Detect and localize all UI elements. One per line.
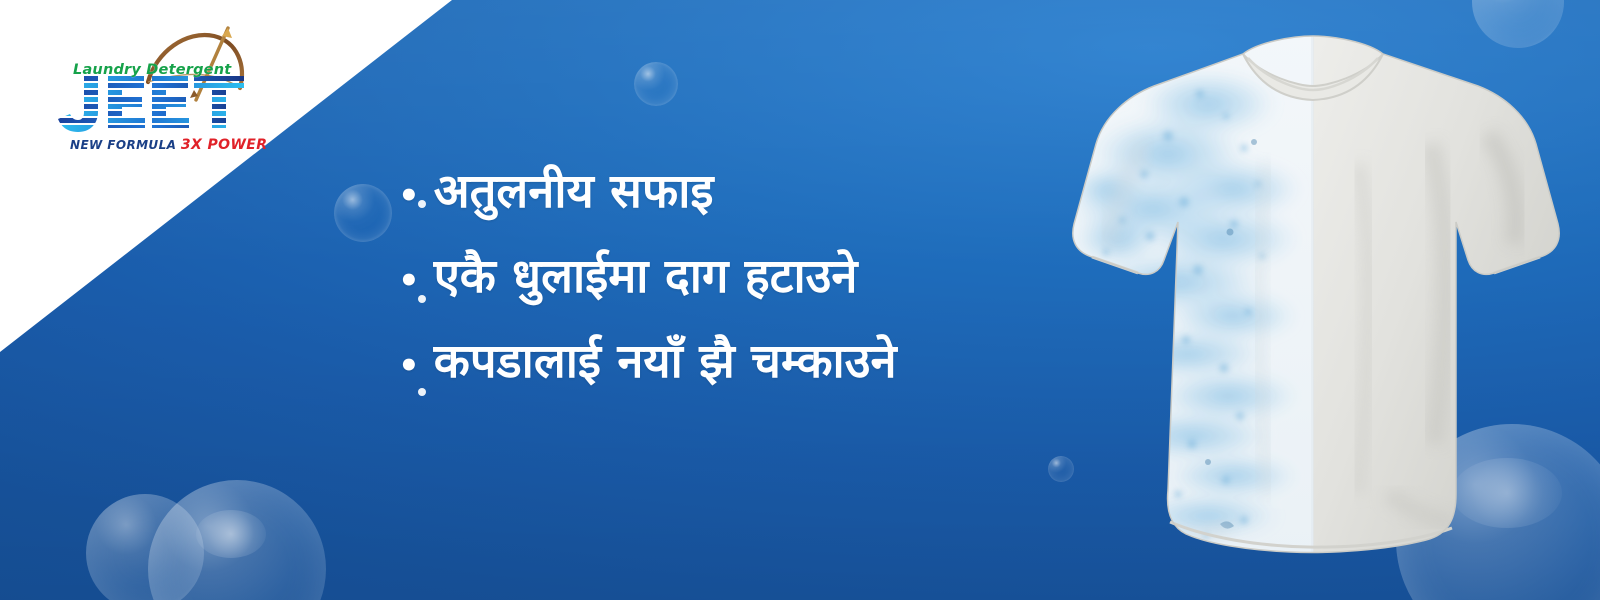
benefit-text-3: कपडालाई नयाँ झै चम्काउने — [434, 338, 897, 385]
bullet-marker-icon: • — [398, 179, 420, 213]
bullet-marker-icon: • — [398, 349, 420, 383]
list-item: • एकै धुलाईमा दाग हटाउने — [398, 253, 1138, 300]
benefit-list: • अतुलनीय सफाइ • एकै धुलाईमा दाग हटाउने … — [398, 168, 1138, 385]
promo-banner: Laundry Detergent — [0, 0, 1600, 600]
bullet-marker-icon: • — [398, 264, 420, 298]
bubble-bottom-left-small — [86, 494, 204, 600]
list-item: • अतुलनीय सफाइ — [398, 168, 1138, 215]
brand-logo[interactable]: Laundry Detergent — [46, 22, 256, 162]
dot-lower-right — [418, 388, 426, 396]
logo-tagline-bottom: NEW FORMULA 3X POWER — [70, 137, 267, 153]
logo-tagline-top: Laundry Detergent — [73, 62, 231, 78]
logo-tagline-3x-power: 3X POWER — [181, 137, 268, 153]
logo-tagline-new-formula: NEW FORMULA — [70, 138, 176, 152]
bubble-upper-center — [634, 62, 678, 106]
bubble-bottom-left-highlight — [196, 510, 266, 558]
bubble-bottom-left-large — [148, 480, 326, 600]
benefit-text-1: अतुलनीय सफाइ — [434, 168, 714, 215]
list-item: • कपडालाई नयाँ झै चम्काउने — [398, 338, 1138, 385]
benefit-text-2: एकै धुलाईमा दाग हटाउने — [434, 253, 858, 300]
logo-letter-t — [50, 76, 250, 132]
logo-wordmark-jeet — [50, 74, 250, 136]
bubble-top-left-mid — [334, 184, 392, 242]
